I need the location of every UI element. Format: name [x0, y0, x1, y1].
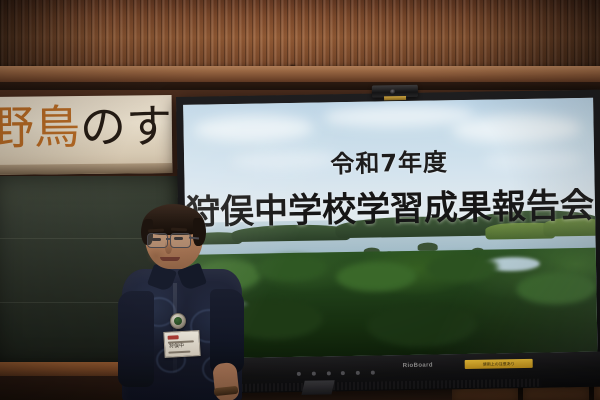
slide-foreground-vegetation [186, 248, 598, 359]
mouth [160, 257, 180, 261]
warning-sticker-text: 使用上の注意あり [465, 359, 533, 369]
tree-cluster [336, 261, 417, 292]
left-arm [118, 291, 154, 387]
eyeglasses-bridge [166, 238, 171, 240]
banner-text: 野鳥のすむ [0, 101, 172, 153]
display-power-button[interactable] [297, 372, 301, 376]
banner-text-black: のすむ [80, 99, 173, 154]
name-tag: 狩俣中 [163, 330, 200, 358]
lapel-badge [170, 313, 186, 329]
display-input-button[interactable] [312, 372, 316, 376]
display-extra-button[interactable] [371, 371, 375, 375]
ceiling-beam [0, 66, 600, 82]
display-volume-up-button[interactable] [341, 371, 345, 375]
slide-title: 狩俣中学校学習成果報告会 [185, 178, 596, 234]
tree-cluster [426, 253, 498, 282]
tree-cluster [367, 302, 478, 348]
display-stand-neck [301, 380, 334, 395]
warning-sticker: 使用上の注意あり [465, 359, 533, 369]
brand-label: RioBoard [403, 363, 433, 370]
paper-banner: 野鳥のすむ [0, 95, 172, 175]
badge-emblem [174, 317, 182, 325]
banner-text-orange: 野鳥 [0, 100, 80, 155]
tree-cluster [516, 272, 597, 305]
name-tag-line [168, 351, 190, 354]
banner-bottom-edge [0, 163, 172, 175]
tree-cluster [256, 254, 326, 281]
display-menu-button[interactable] [326, 371, 330, 375]
camera-mount [384, 96, 406, 100]
camera-lens [390, 89, 396, 94]
slide-subtitle: 令和7年度 [184, 140, 595, 182]
presenter-figure: 狩俣中 [118, 205, 246, 400]
nose [165, 241, 172, 254]
eyeglasses-lens-right [170, 233, 191, 248]
name-tag-accent [168, 335, 179, 340]
face-shading [146, 247, 166, 265]
right-arm [210, 289, 244, 373]
name-tag-text: 狩俣中 [169, 343, 184, 350]
hair-side-right [193, 218, 206, 246]
display-volume-down-button[interactable] [356, 371, 360, 375]
photo-scene: 野鳥のすむ [0, 0, 600, 400]
camera-icon [372, 85, 418, 98]
